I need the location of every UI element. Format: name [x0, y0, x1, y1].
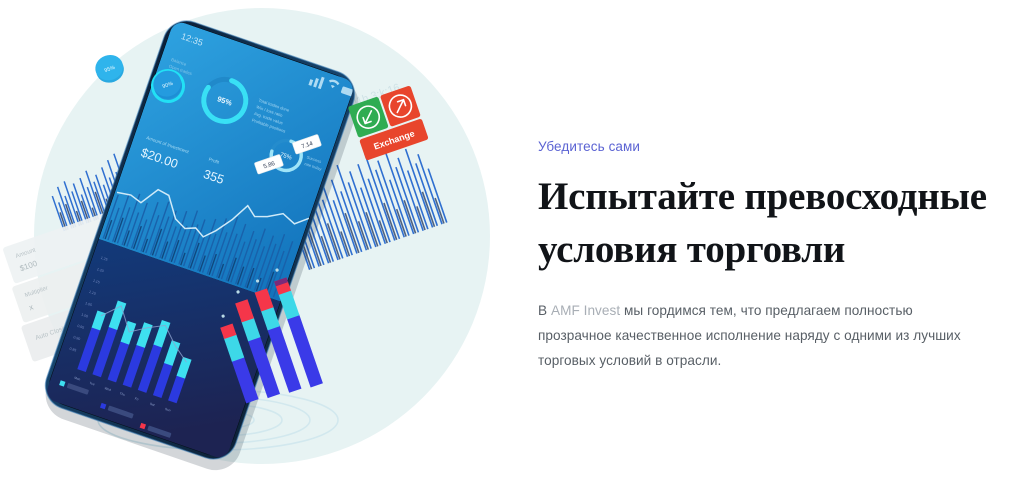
- illustration-panel: 01h 3:k:16 Quote 0.20: [0, 0, 530, 491]
- page-title: Испытайте превосходные условия торговли: [538, 170, 998, 276]
- body-paragraph: В AMF Invest мы гордимся тем, что предла…: [538, 298, 990, 373]
- brand-name: AMF Invest: [551, 303, 620, 318]
- hero-copy: Убедитесь сами Испытайте превосходные ус…: [538, 138, 998, 373]
- eyebrow-text: Убедитесь сами: [538, 138, 998, 156]
- headline-line-1: Испытайте превосходные: [538, 175, 987, 218]
- headline-line-2: условия торговли: [538, 228, 845, 271]
- trading-app-illustration: 01h 3:k:16 Quote 0.20: [0, 0, 530, 491]
- hero-section: 01h 3:k:16 Quote 0.20: [0, 0, 1024, 491]
- body-prefix: В: [538, 303, 551, 318]
